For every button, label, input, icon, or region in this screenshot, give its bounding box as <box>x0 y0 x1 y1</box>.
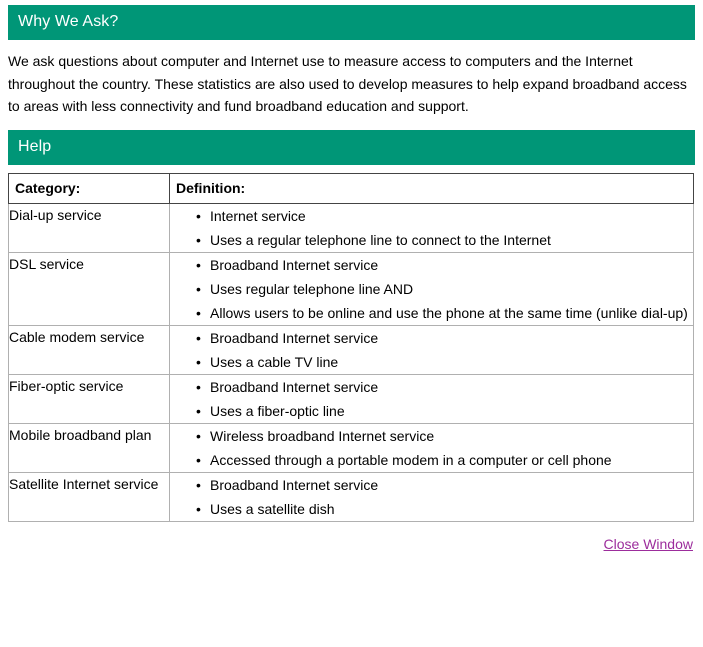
definition-item: Uses a fiber-optic line <box>196 399 693 423</box>
definition-item: Uses a satellite dish <box>196 497 693 521</box>
definition-cell: Broadband Internet service Uses regular … <box>170 252 694 325</box>
definition-item: Broadband Internet service <box>196 253 693 277</box>
close-window-link[interactable]: Close Window <box>604 536 693 552</box>
definition-cell: Internet service Uses a regular telephon… <box>170 203 694 252</box>
definition-list: Broadband Internet service Uses a fiber-… <box>170 375 693 423</box>
definition-item: Wireless broadband Internet service <box>196 424 693 448</box>
table-row: Cable modem service Broadband Internet s… <box>9 325 694 374</box>
definition-item: Allows users to be online and use the ph… <box>196 301 693 325</box>
footer-close-row: Close Window <box>8 536 693 552</box>
table-header-row: Category: Definition: <box>9 173 694 203</box>
category-cell: DSL service <box>9 252 170 325</box>
column-header-definition: Definition: <box>170 173 694 203</box>
definition-item: Accessed through a portable modem in a c… <box>196 448 693 472</box>
category-cell: Cable modem service <box>9 325 170 374</box>
definition-cell: Broadband Internet service Uses a cable … <box>170 325 694 374</box>
table-row: Mobile broadband plan Wireless broadband… <box>9 423 694 472</box>
definition-cell: Broadband Internet service Uses a satell… <box>170 472 694 521</box>
table-row: DSL service Broadband Internet service U… <box>9 252 694 325</box>
definition-list: Wireless broadband Internet service Acce… <box>170 424 693 472</box>
definition-item: Uses regular telephone line AND <box>196 277 693 301</box>
category-cell: Fiber-optic service <box>9 374 170 423</box>
help-definitions-table: Category: Definition: Dial-up service In… <box>8 173 694 522</box>
definition-list: Broadband Internet service Uses a cable … <box>170 326 693 374</box>
definition-item: Uses a cable TV line <box>196 350 693 374</box>
why-we-ask-paragraph: We ask questions about computer and Inte… <box>8 50 688 118</box>
definition-item: Broadband Internet service <box>196 326 693 350</box>
category-cell: Mobile broadband plan <box>9 423 170 472</box>
category-cell: Satellite Internet service <box>9 472 170 521</box>
definition-cell: Broadband Internet service Uses a fiber-… <box>170 374 694 423</box>
column-header-category: Category: <box>9 173 170 203</box>
table-row: Dial-up service Internet service Uses a … <box>9 203 694 252</box>
definition-list: Broadband Internet service Uses regular … <box>170 253 693 325</box>
definition-list: Broadband Internet service Uses a satell… <box>170 473 693 521</box>
definition-item: Uses a regular telephone line to connect… <box>196 228 693 252</box>
definition-cell: Wireless broadband Internet service Acce… <box>170 423 694 472</box>
table-row: Fiber-optic service Broadband Internet s… <box>9 374 694 423</box>
definition-item: Internet service <box>196 204 693 228</box>
definition-list: Internet service Uses a regular telephon… <box>170 204 693 252</box>
why-we-ask-banner: Why We Ask? <box>8 5 695 40</box>
definition-item: Broadband Internet service <box>196 375 693 399</box>
help-banner: Help <box>8 130 695 165</box>
table-row: Satellite Internet service Broadband Int… <box>9 472 694 521</box>
help-page: Why We Ask? We ask questions about compu… <box>0 5 703 552</box>
definition-item: Broadband Internet service <box>196 473 693 497</box>
category-cell: Dial-up service <box>9 203 170 252</box>
table-body: Dial-up service Internet service Uses a … <box>9 203 694 521</box>
